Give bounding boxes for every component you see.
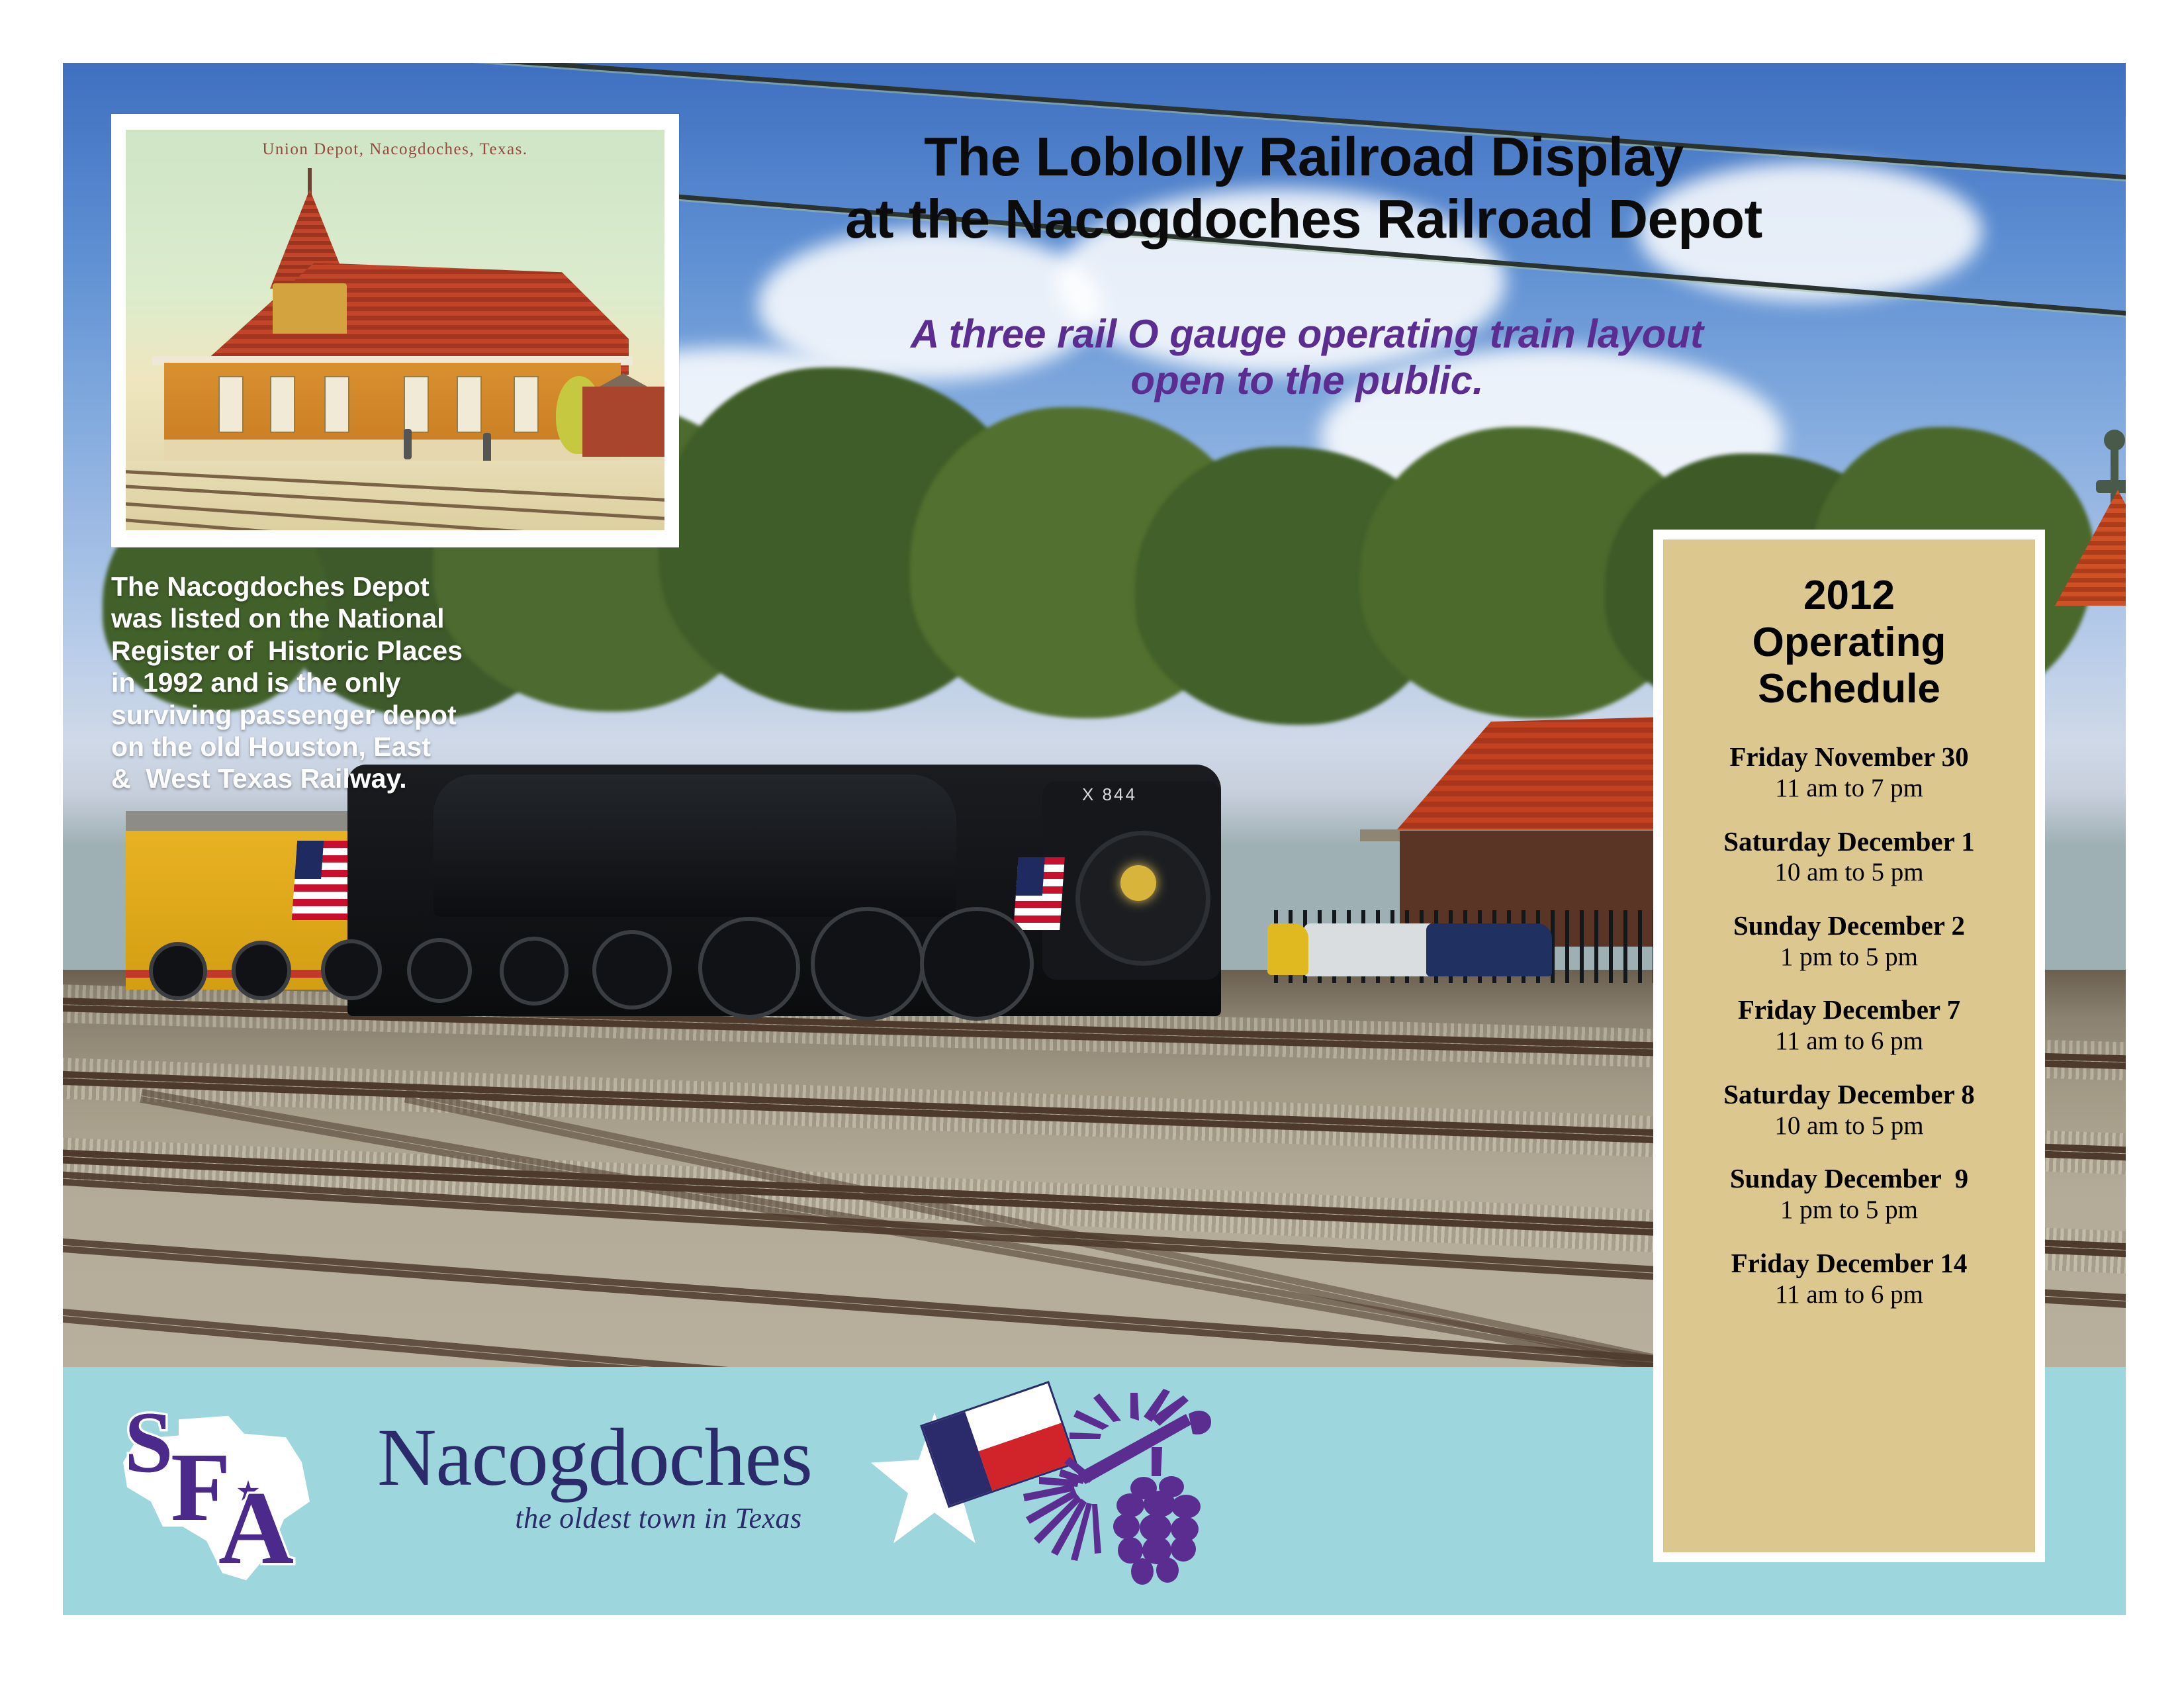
pinecone-scales	[1113, 1476, 1201, 1585]
postcard-shed	[582, 387, 664, 457]
schedule-entry: Sunday December 2 1 pm to 5 pm	[1663, 911, 2035, 972]
schedule-entry: Friday December 14 11 am to 6 pm	[1663, 1248, 2035, 1310]
blurb-line-4: in 1992 and is the only	[111, 667, 574, 698]
schedule-entry-date: Friday November 30	[1663, 742, 2035, 773]
american-flag	[1013, 857, 1065, 930]
schedule-entry-date: Sunday December 2	[1663, 911, 2035, 941]
driver-wheel	[920, 907, 1034, 1021]
driver-wheel	[811, 907, 925, 1021]
truck-wheel	[592, 930, 672, 1009]
sfa-letter-s: S	[124, 1391, 173, 1493]
schedule-entry-time: 11 am to 6 pm	[1663, 1279, 2035, 1311]
schedule-entry-date: Saturday December 1	[1663, 827, 2035, 857]
schedule-title-schedule: Schedule	[1663, 666, 2035, 713]
historic-postcard: Union Depot, Nacogdoches, Texas.	[111, 114, 679, 547]
depot-turret	[2055, 434, 2126, 659]
headline-line-2: at the Nacogdoches Railroad Depot	[655, 188, 1952, 250]
postcard-window	[404, 376, 429, 433]
postcard-image: Union Depot, Nacogdoches, Texas.	[126, 130, 664, 530]
blurb-line-7: & West Texas Railway.	[111, 763, 574, 794]
postcard-tower-base	[273, 283, 347, 334]
schedule-entry: Sunday December 9 1 pm to 5 pm	[1663, 1164, 2035, 1225]
locomotive-number: X 844	[1082, 784, 1137, 805]
postcard-figure	[483, 433, 491, 463]
poster-canvas: UNION PACIFIC X 844 Union Depot, Nacogdo…	[0, 0, 2184, 1688]
truck-wheel	[232, 941, 291, 1000]
person-figure	[1267, 923, 1308, 975]
truck-wheel	[500, 937, 569, 1006]
schedule-entry-time: 10 am to 5 pm	[1663, 857, 2035, 888]
depot-history-paragraph: The Nacogdoches Depot was listed on the …	[111, 571, 574, 795]
nacogdoches-tagline: the oldest town in Texas	[377, 1501, 940, 1535]
parked-vehicle	[1304, 923, 1443, 976]
pine-branch-icon	[953, 1383, 1271, 1609]
schedule-panel-body: 2012 Operating Schedule Friday November …	[1663, 539, 2035, 1552]
driver-wheel	[698, 917, 800, 1019]
schedule-title-year: 2012	[1663, 573, 2035, 620]
locomotive-boiler	[433, 774, 956, 917]
blurb-line-2: was listed on the National	[111, 602, 574, 634]
blurb-line-3: Register of Historic Places	[111, 635, 574, 667]
postcard-window	[270, 376, 295, 433]
schedule-entry-date: Sunday December 9	[1663, 1164, 2035, 1194]
schedule-entry: Friday November 30 11 am to 7 pm	[1663, 742, 2035, 804]
poster-headline: The Loblolly Railroad Display at the Nac…	[655, 126, 1952, 250]
sfa-letter-a: A	[218, 1468, 294, 1589]
schedule-entry: Saturday December 1 10 am to 5 pm	[1663, 827, 2035, 888]
schedule-entry-date: Friday December 14	[1663, 1248, 2035, 1279]
postcard-window	[218, 376, 244, 433]
schedule-entry-time: 11 am to 7 pm	[1663, 773, 2035, 804]
turret-roof	[2055, 490, 2126, 606]
operating-schedule-panel: 2012 Operating Schedule Friday November …	[1653, 530, 2045, 1562]
truck-wheel	[321, 939, 382, 1000]
truck-wheel	[407, 938, 472, 1003]
schedule-entry-time: 11 am to 6 pm	[1663, 1025, 2035, 1057]
subheadline-line-1: A three rail O gauge operating train lay…	[662, 311, 1952, 357]
schedule-entry: Saturday December 8 10 am to 5 pm	[1663, 1080, 2035, 1141]
postcard-window	[324, 376, 349, 433]
postcard-foundation	[164, 440, 621, 462]
pinecone-logo	[953, 1383, 1271, 1609]
schedule-entry-date: Saturday December 8	[1663, 1080, 2035, 1110]
postcard-window	[457, 376, 482, 433]
headline-line-1: The Loblolly Railroad Display	[655, 126, 1952, 188]
headlight	[1120, 865, 1156, 901]
blurb-line-5: surviving passenger depot	[111, 699, 574, 731]
sfa-university-logo: S F A	[119, 1397, 324, 1595]
postcard-window	[514, 376, 539, 433]
parked-vehicle	[1426, 923, 1552, 976]
blurb-line-1: The Nacogdoches Depot	[111, 571, 574, 602]
schedule-entry-time: 1 pm to 5 pm	[1663, 1194, 2035, 1226]
nacogdoches-city-logo: Nacogdoches the oldest town in Texas	[377, 1417, 940, 1582]
poster-subheadline: A three rail O gauge operating train lay…	[662, 311, 1952, 403]
postcard-caption: Union Depot, Nacogdoches, Texas.	[126, 140, 664, 159]
schedule-entry-time: 10 am to 5 pm	[1663, 1110, 2035, 1142]
schedule-title: 2012 Operating Schedule	[1663, 573, 2035, 713]
schedule-entry-date: Friday December 7	[1663, 995, 2035, 1025]
schedule-entry-list: Friday November 30 11 am to 7 pm Saturda…	[1663, 742, 2035, 1310]
schedule-entry-time: 1 pm to 5 pm	[1663, 941, 2035, 973]
schedule-entry: Friday December 7 11 am to 6 pm	[1663, 995, 2035, 1056]
blurb-line-6: on the old Houston, East	[111, 731, 574, 763]
american-flag	[292, 841, 355, 920]
subheadline-line-2: open to the public.	[662, 357, 1952, 404]
postcard-figure	[404, 429, 412, 459]
truck-wheel	[149, 942, 207, 1000]
turret-knob	[2096, 480, 2126, 493]
nacogdoches-wordmark: Nacogdoches	[377, 1417, 940, 1499]
schedule-title-operating: Operating	[1663, 620, 2035, 667]
